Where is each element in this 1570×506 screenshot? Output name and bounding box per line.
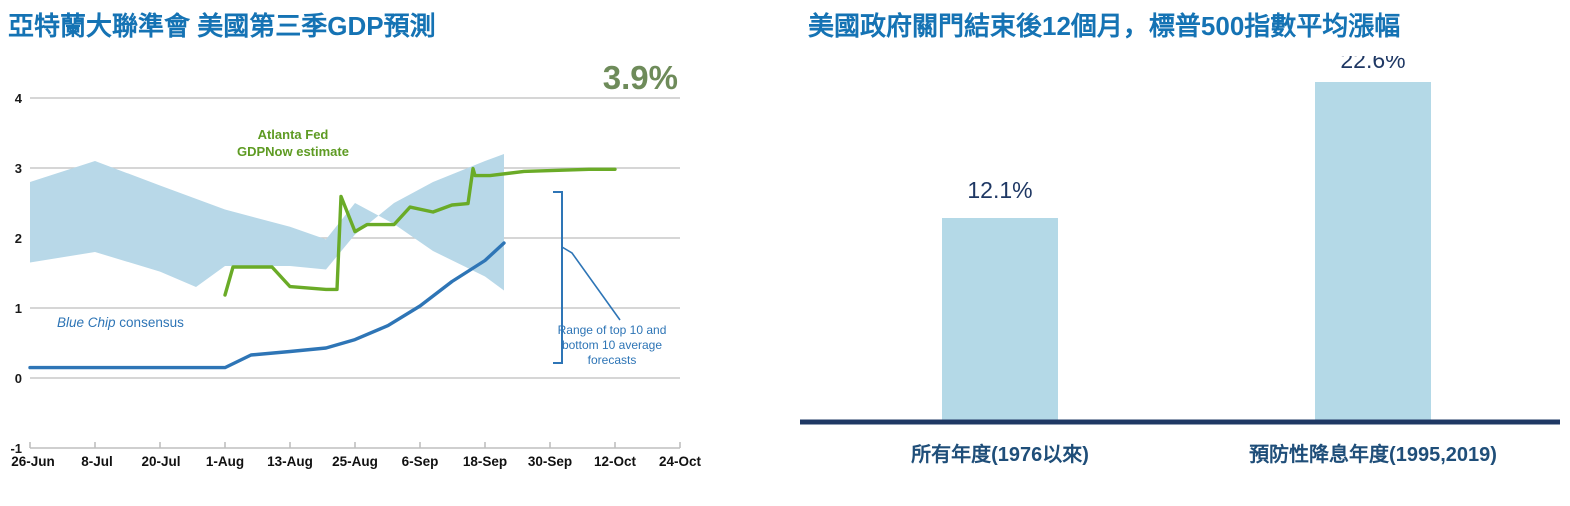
- x-tick-8: 30-Sep: [528, 454, 572, 469]
- x-tick-0: 26-Jun: [11, 454, 55, 469]
- gdpnow-label-line1: Atlanta Fed: [258, 127, 329, 142]
- bar-all-years: [942, 218, 1058, 420]
- x-tick-2: 20-Jul: [141, 454, 180, 469]
- y-tick-4: 4: [15, 91, 23, 106]
- right-panel: 美國政府關門結束後12個月，標普500指數平均漲幅 12.1% 22.6% 所有…: [790, 0, 1570, 506]
- x-tick-3: 1-Aug: [206, 454, 244, 469]
- slide-canvas: 亞特蘭大聯準會 美國第三季GDP預測 4 3: [0, 0, 1570, 506]
- y-axis-labels: 4 3 2 1 0 -1: [10, 91, 22, 456]
- bar-value-all-years: 12.1%: [967, 177, 1032, 203]
- x-tick-9: 12-Oct: [594, 454, 637, 469]
- y-tick-0: 0: [15, 371, 22, 386]
- category-label-all-years: 所有年度(1976以來): [911, 442, 1089, 466]
- range-annotation: Range of top 10 and bottom 10 average fo…: [558, 323, 667, 367]
- blue-chip-label-italic: Blue Chip: [57, 315, 116, 330]
- bar-value-preventive-cut-years: 22.6%: [1340, 56, 1405, 73]
- right-panel-title: 美國政府關門結束後12個月，標普500指數平均漲幅: [808, 6, 1400, 43]
- range-label-line3: forecasts: [588, 353, 637, 367]
- x-axis: [30, 442, 680, 448]
- bar-preventive-cut-years: [1315, 82, 1431, 420]
- left-panel: 亞特蘭大聯準會 美國第三季GDP預測 4 3: [0, 0, 780, 506]
- range-label-line2: bottom 10 average: [562, 338, 662, 352]
- left-panel-title: 亞特蘭大聯準會 美國第三季GDP預測: [8, 6, 436, 43]
- y-tick-1: 1: [15, 301, 22, 316]
- blue-chip-series-label: Blue Chip consensus: [57, 315, 184, 330]
- range-bracket: [553, 192, 562, 363]
- x-tick-6: 6-Sep: [402, 454, 439, 469]
- blue-chip-label-rest: consensus: [116, 315, 185, 330]
- gdpnow-series-label: Atlanta Fed GDPNow estimate: [237, 127, 349, 159]
- x-axis-labels: 26-Jun 8-Jul 20-Jul 1-Aug 13-Aug 25-Aug …: [11, 454, 701, 469]
- sp500-after-shutdown-chart: 12.1% 22.6% 所有年度(1976以來) 預防性降息年度(1995,20…: [790, 56, 1570, 506]
- x-tick-5: 25-Aug: [332, 454, 378, 469]
- gdpnow-forecast-chart: 4 3 2 1 0 -1: [0, 56, 780, 506]
- latest-value-badge: 3.9%: [603, 59, 678, 96]
- y-tick-2: 2: [15, 231, 22, 246]
- x-tick-10: 24-Oct: [659, 454, 702, 469]
- y-tick-3: 3: [15, 161, 22, 176]
- range-leader-line: [562, 247, 620, 320]
- category-label-preventive-cut-years: 預防性降息年度(1995,2019): [1249, 442, 1497, 466]
- gdpnow-label-line2: GDPNow estimate: [237, 144, 349, 159]
- x-tick-7: 18-Sep: [463, 454, 507, 469]
- range-label-line1: Range of top 10 and: [558, 323, 667, 337]
- x-tick-1: 8-Jul: [81, 454, 113, 469]
- forecast-range-band: [30, 154, 504, 291]
- x-tick-4: 13-Aug: [267, 454, 313, 469]
